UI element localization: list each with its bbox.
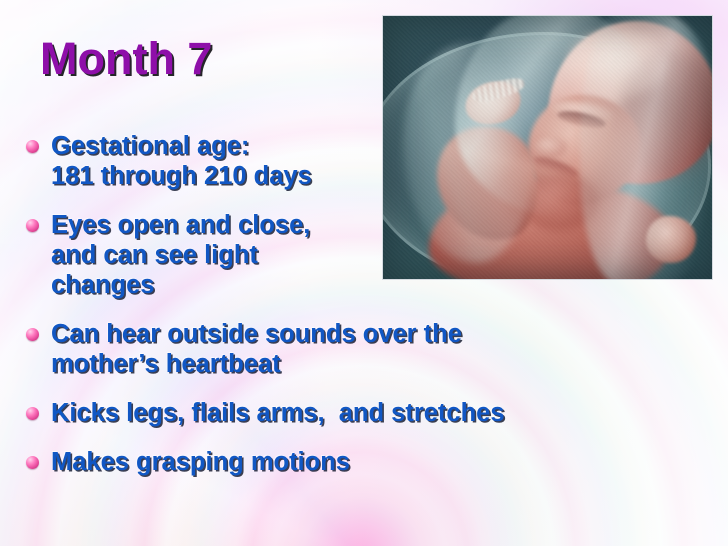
- fetus-hand-shape: [460, 74, 526, 131]
- bullet-text: Gestational age: 181 through 210 days: [51, 131, 312, 191]
- list-item: Can hear outside sounds over the mother’…: [26, 319, 662, 379]
- bullet-text: Kicks legs, flails arms, and stretches: [51, 398, 505, 428]
- slide-title: Month 7: [40, 33, 212, 85]
- bullet-text: Makes grasping motions: [51, 447, 350, 477]
- list-item: Gestational age: 181 through 210 days: [26, 131, 662, 191]
- fetus-eyelid-shape: [550, 97, 615, 126]
- bullet-sphere-icon: [26, 407, 39, 420]
- bullet-sphere-icon: [26, 140, 39, 153]
- presentation-slide: Month 7 Gestational age: 181 through 210…: [0, 0, 728, 546]
- fetus-forehead-highlight: [567, 29, 666, 97]
- fetus-fingers-shape: [471, 75, 526, 105]
- list-item: Eyes open and close, and can see light c…: [26, 210, 662, 300]
- list-item: Kicks legs, flails arms, and stretches: [26, 398, 662, 428]
- bullet-list: Gestational age: 181 through 210 days Ey…: [26, 131, 662, 496]
- bullet-text: Eyes open and close, and can see light c…: [51, 210, 310, 300]
- bullet-sphere-icon: [26, 219, 39, 232]
- list-item: Makes grasping motions: [26, 447, 662, 477]
- bullet-sphere-icon: [26, 328, 39, 341]
- fetus-closed-eye-shape: [557, 108, 608, 131]
- bullet-text: Can hear outside sounds over the mother’…: [51, 319, 462, 379]
- bullet-sphere-icon: [26, 456, 39, 469]
